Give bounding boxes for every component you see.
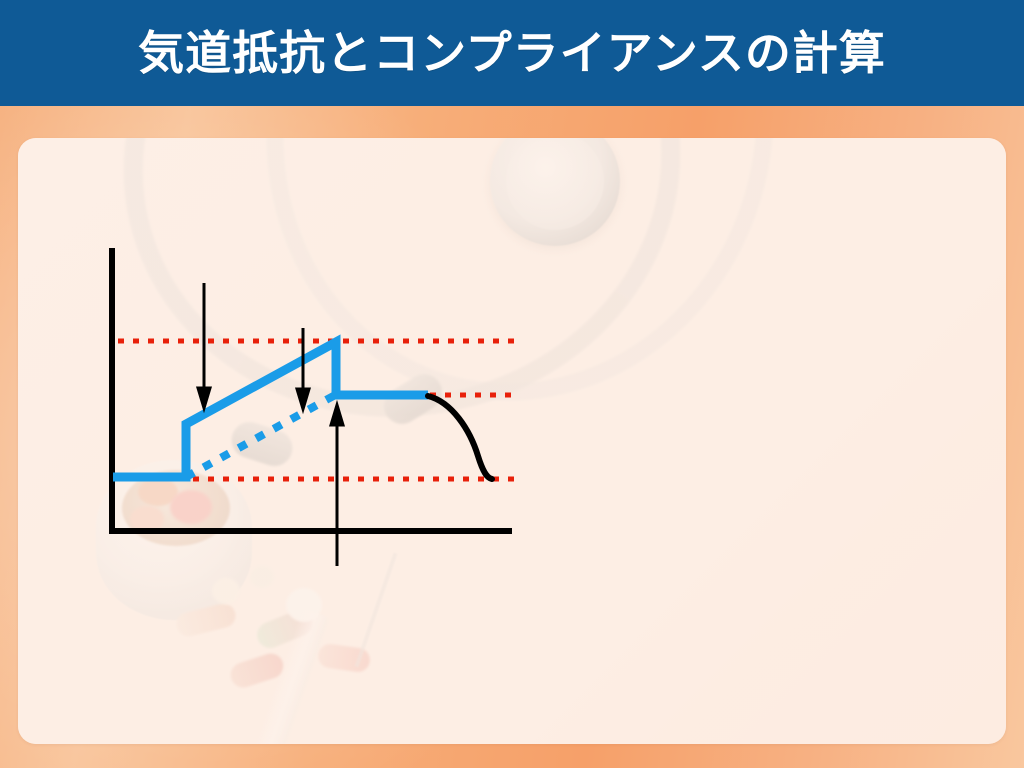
airway-pressure-arrow <box>198 283 210 408</box>
title-banner: 気道抵抗とコンプライアンスの計算 <box>0 0 1024 106</box>
airway-pressure-waveform <box>113 342 428 477</box>
page-title: 気道抵抗とコンプライアンスの計算 <box>138 30 886 76</box>
alveolar-pressure-line <box>186 394 337 477</box>
inspiratory-pause-arrow <box>331 405 343 566</box>
pressure-waveform-chart <box>0 0 1024 768</box>
slide: 気道抵抗とコンプライアンスの計算 <box>0 0 1024 768</box>
expiratory-decay-curve <box>428 396 492 479</box>
